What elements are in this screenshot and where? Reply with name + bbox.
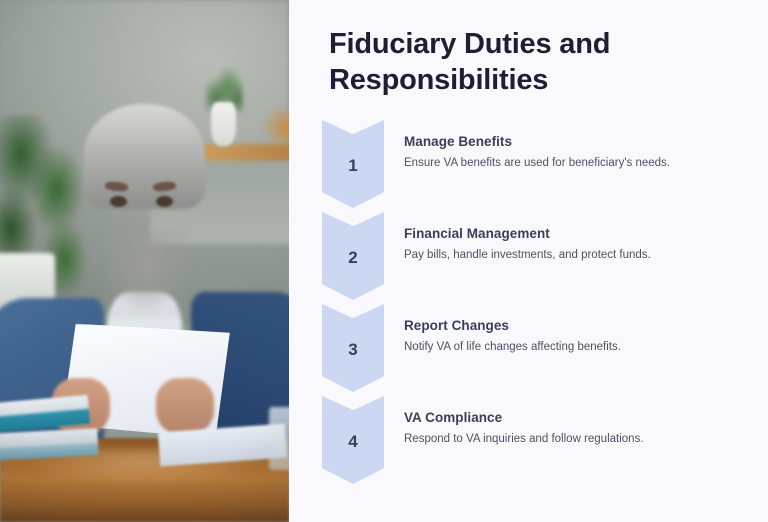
step-number: 3 — [348, 339, 357, 358]
step-number: 2 — [348, 247, 357, 266]
chevron-badge-2: 2 — [322, 212, 384, 300]
hero-photo — [0, 0, 289, 522]
chevron-badge-4: 4 — [322, 396, 384, 484]
step-description: Respond to VA inquiries and follow regul… — [404, 432, 734, 447]
step-description: Ensure VA benefits are used for benefici… — [404, 156, 734, 171]
step-description: Pay bills, handle investments, and prote… — [404, 248, 734, 263]
photo-beard — [104, 230, 188, 319]
list-item: 1 Manage Benefits Ensure VA benefits are… — [289, 120, 768, 212]
photo-drinking-glass — [269, 407, 289, 470]
step-text-block: Financial Management Pay bills, handle i… — [404, 226, 734, 263]
chevron-badge-3: 3 — [322, 304, 384, 392]
list-item: 4 VA Compliance Respond to VA inquiries … — [289, 396, 768, 488]
photo-hair — [84, 104, 205, 208]
list-item: 2 Financial Management Pay bills, handle… — [289, 212, 768, 304]
content-panel: Fiduciary Duties and Responsibilities 1 … — [289, 0, 768, 522]
step-text-block: VA Compliance Respond to VA inquiries an… — [404, 410, 734, 447]
photo-hand-right — [156, 378, 214, 435]
steps-list: 1 Manage Benefits Ensure VA benefits are… — [289, 120, 768, 488]
slide-root: Fiduciary Duties and Responsibilities 1 … — [0, 0, 768, 522]
step-title: Financial Management — [404, 226, 734, 241]
step-title: VA Compliance — [404, 410, 734, 425]
step-number: 4 — [348, 431, 357, 450]
step-description: Notify VA of life changes affecting bene… — [404, 340, 734, 355]
photo-warm-highlight — [263, 104, 289, 151]
photo-book-bottom — [0, 428, 99, 461]
photo-shelf-vase — [211, 102, 236, 146]
list-item: 3 Report Changes Notify VA of life chang… — [289, 304, 768, 396]
step-title: Report Changes — [404, 318, 734, 333]
step-title: Manage Benefits — [404, 134, 734, 149]
step-text-block: Report Changes Notify VA of life changes… — [404, 318, 734, 355]
page-title: Fiduciary Duties and Responsibilities — [329, 26, 729, 98]
step-text-block: Manage Benefits Ensure VA benefits are u… — [404, 134, 734, 171]
step-number: 1 — [348, 155, 357, 174]
chevron-badge-1: 1 — [322, 120, 384, 208]
